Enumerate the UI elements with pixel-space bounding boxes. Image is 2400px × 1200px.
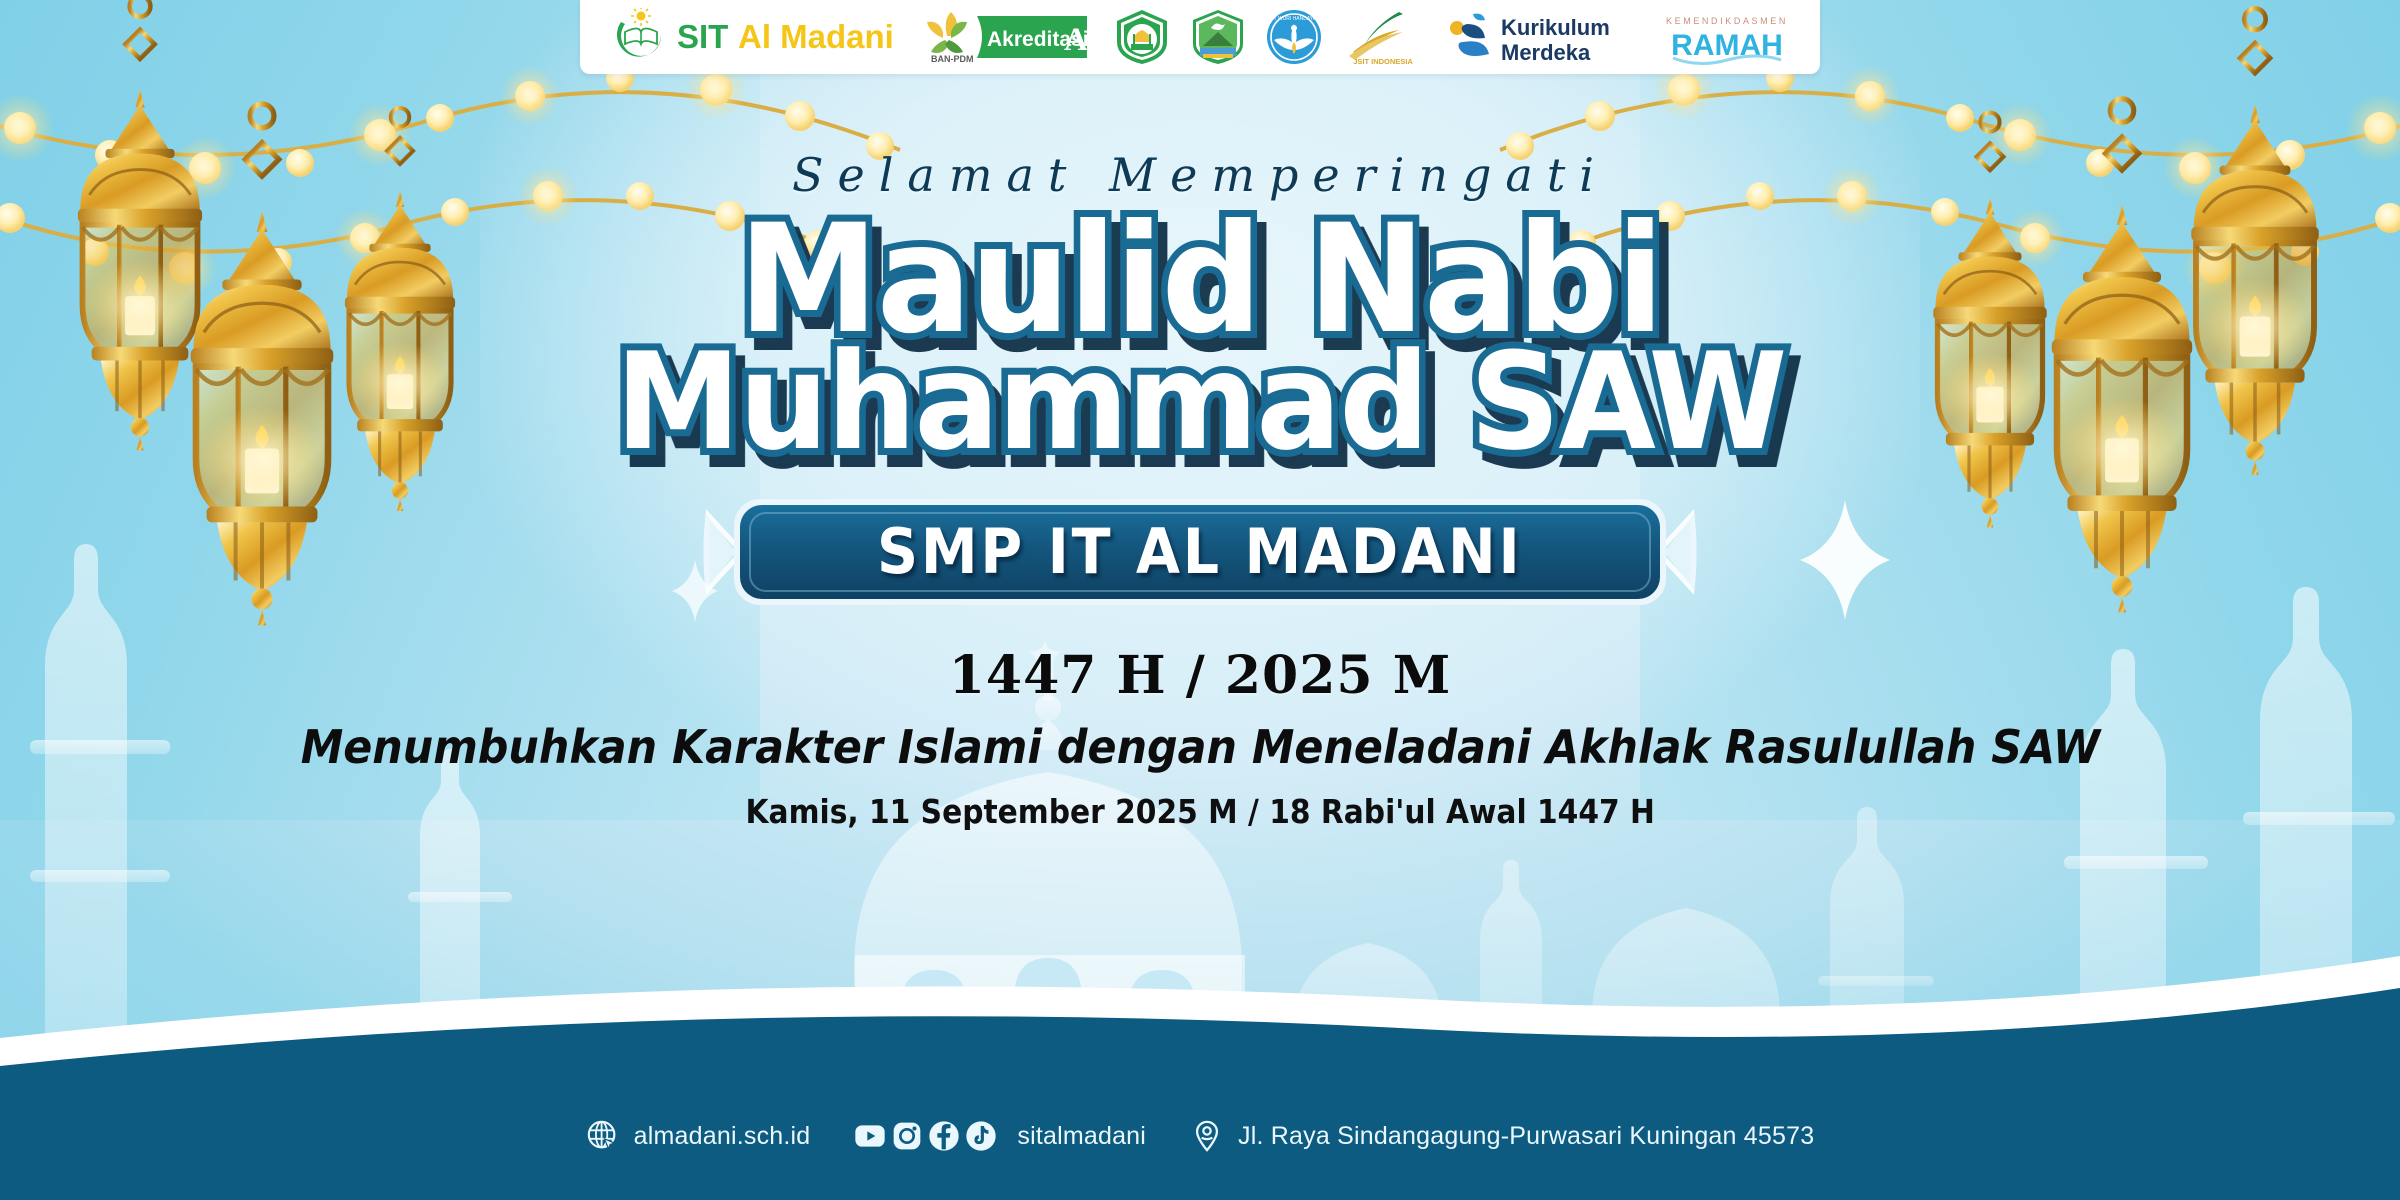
svg-text:A: A bbox=[1064, 22, 1088, 58]
svg-text:Merdeka: Merdeka bbox=[1501, 40, 1591, 65]
footer-address: Jl. Raya Sindangagung-Purwasari Kuningan… bbox=[1190, 1119, 1814, 1153]
svg-text:KEMENDIKDASMEN: KEMENDIKDASMEN bbox=[1666, 16, 1788, 26]
logo-tut-wuri-handayani: TUT WURI HANDAYANI bbox=[1265, 8, 1323, 66]
logo-ban-pdm-akreditasi: BAN-PDM Akreditasi A bbox=[925, 8, 1095, 66]
footer-website[interactable]: almadani.sch.id bbox=[586, 1119, 811, 1153]
maulid-nabi-banner: SIT Al Madani BAN-PDM Akreditasi A bbox=[0, 0, 2400, 1200]
instagram-icon[interactable] bbox=[891, 1120, 923, 1152]
address-text: Jl. Raya Sindangagung-Purwasari Kuningan… bbox=[1238, 1122, 1814, 1151]
facebook-icon[interactable] bbox=[928, 1120, 960, 1152]
logo-sit-al-madani: SIT Al Madani bbox=[607, 8, 907, 66]
youtube-icon[interactable] bbox=[854, 1120, 886, 1152]
logo-jsit-indonesia: JSIT INDONESIA bbox=[1341, 8, 1425, 66]
tiktok-icon[interactable] bbox=[965, 1120, 997, 1152]
svg-text:SIT: SIT bbox=[677, 18, 728, 55]
svg-text:Kurikulum: Kurikulum bbox=[1501, 15, 1610, 40]
svg-text:JSIT INDONESIA: JSIT INDONESIA bbox=[1353, 57, 1413, 66]
svg-text:TUT WURI HANDAYANI: TUT WURI HANDAYANI bbox=[1267, 16, 1321, 22]
sparkle-small-icon bbox=[672, 560, 718, 622]
social-handle: sitalmadani bbox=[1017, 1122, 1146, 1151]
footer-social[interactable]: sitalmadani bbox=[854, 1120, 1146, 1152]
logo-kemenag bbox=[1113, 8, 1171, 66]
logo-kurikulum-merdeka: Kurikulum Merdeka bbox=[1443, 8, 1643, 66]
globe-icon bbox=[586, 1119, 620, 1153]
map-pin-icon bbox=[1190, 1119, 1224, 1153]
institution-logo-bar: SIT Al Madani BAN-PDM Akreditasi A bbox=[580, 0, 1820, 74]
svg-text:Al Madani: Al Madani bbox=[738, 18, 894, 55]
svg-text:BAN-PDM: BAN-PDM bbox=[931, 54, 974, 64]
footer-contact-bar: almadani.sch.id bbox=[0, 1072, 2400, 1200]
social-icon-row bbox=[854, 1120, 997, 1152]
website-url: almadani.sch.id bbox=[634, 1122, 811, 1151]
logo-kemendikdasmen-ramah: KEMENDIKDASMEN RAMAH bbox=[1661, 8, 1793, 66]
sparkle-icon bbox=[1800, 500, 1890, 620]
logo-kabupaten-kuningan bbox=[1189, 8, 1247, 66]
